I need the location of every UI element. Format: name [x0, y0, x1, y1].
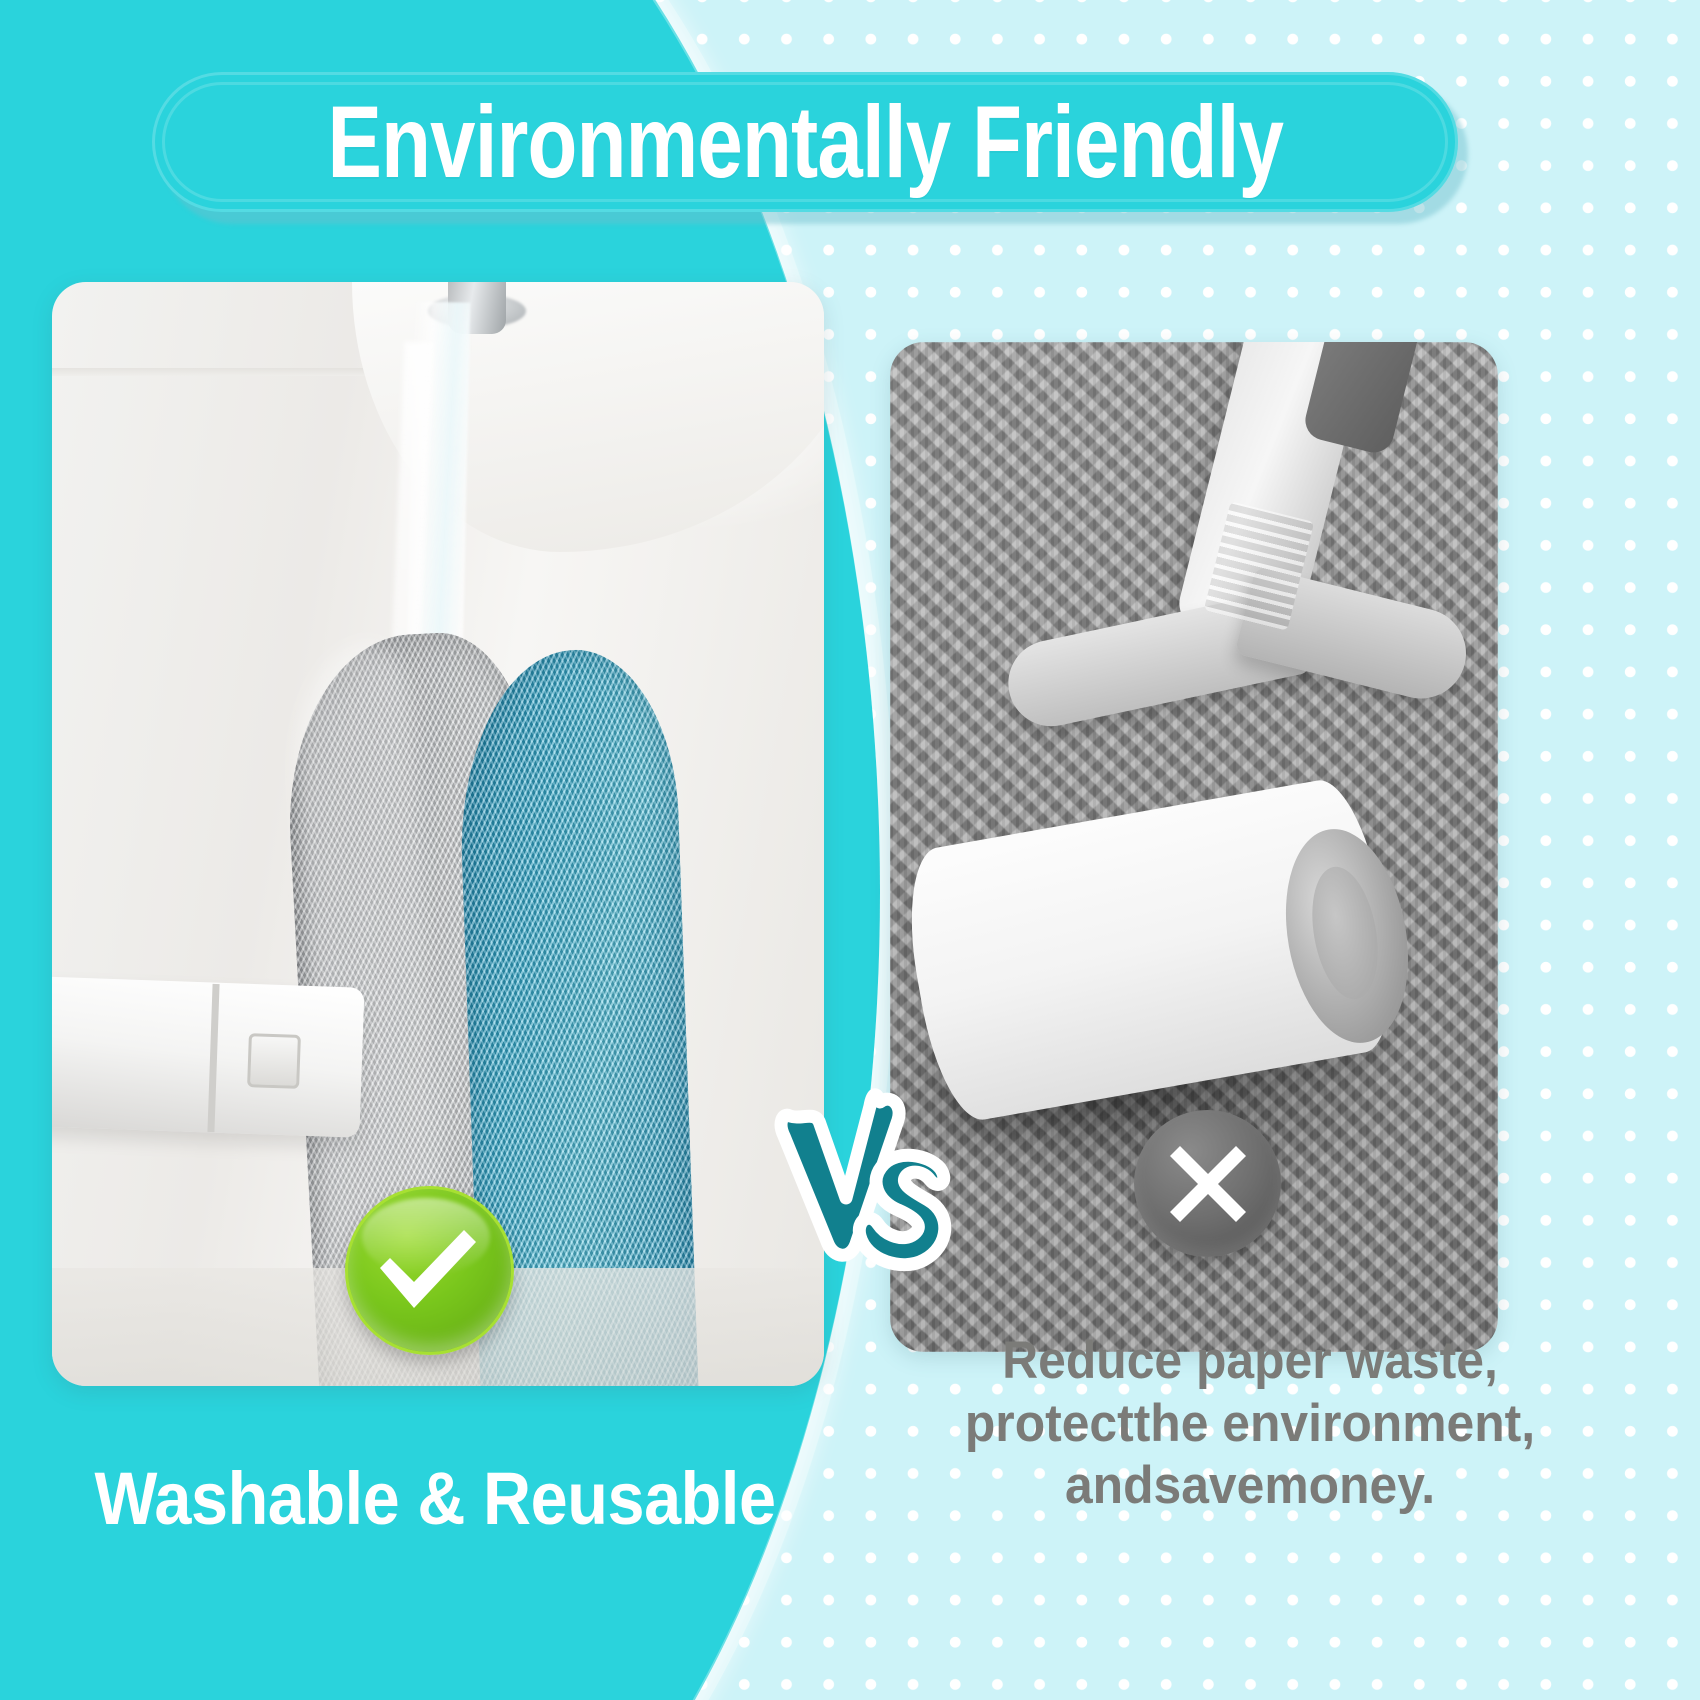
- left-photo-handle-button: [247, 1033, 301, 1089]
- check-icon: [372, 1222, 484, 1314]
- right-caption-line-2: protectthe environment,: [949, 1393, 1551, 1456]
- infographic-canvas: Environmentally Friendly: [0, 0, 1700, 1700]
- x-icon: [1167, 1143, 1249, 1225]
- left-caption: Washable & Reusable: [62, 1462, 809, 1536]
- vs-brush-icon: [772, 1072, 962, 1298]
- right-caption-line-3: andsavemoney.: [949, 1455, 1551, 1518]
- header-title: Environmentally Friendly: [327, 91, 1283, 193]
- right-caption-line-1: Reduce paper waste,: [949, 1330, 1551, 1393]
- header-banner-pill: Environmentally Friendly: [152, 72, 1458, 212]
- right-caption: Reduce paper waste, protectthe environme…: [949, 1330, 1551, 1518]
- header-banner: Environmentally Friendly: [152, 72, 1468, 216]
